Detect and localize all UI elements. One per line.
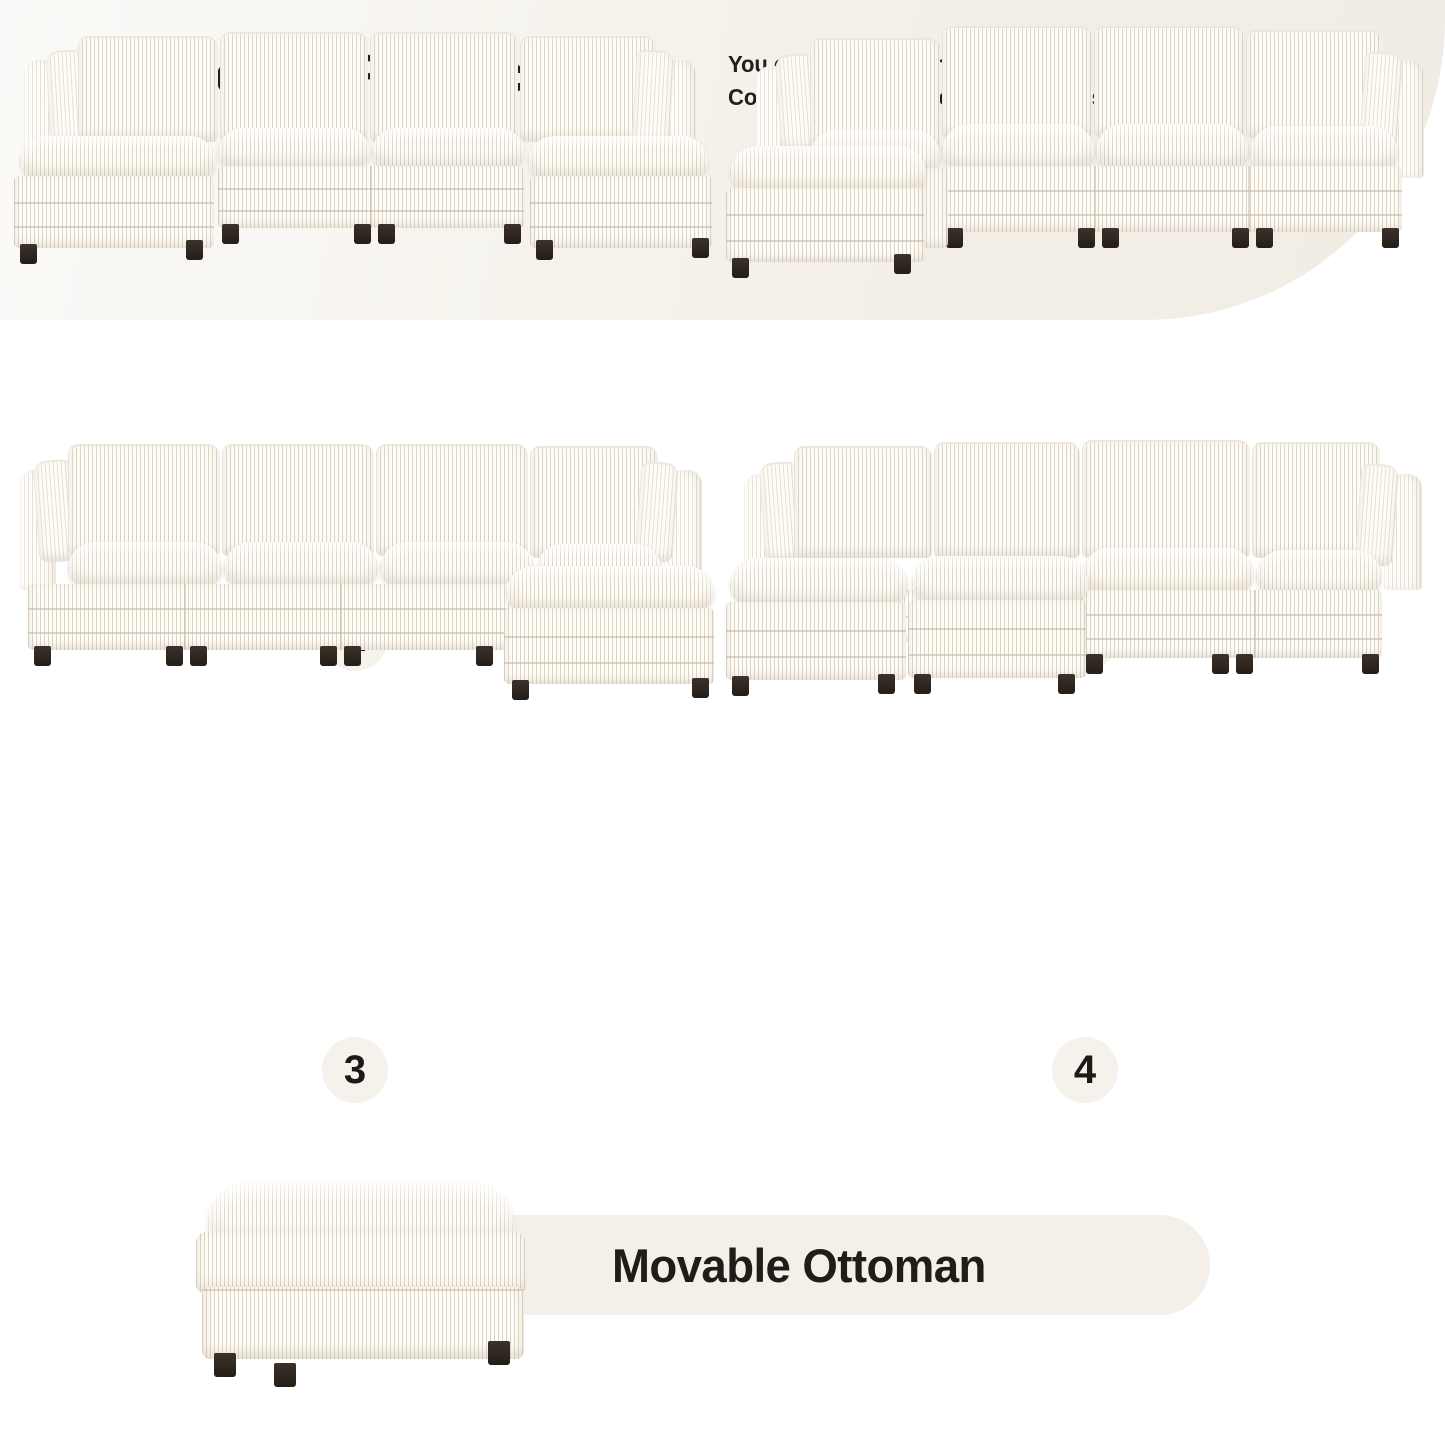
ottoman-cushion (730, 146, 926, 192)
ottoman-upper-base (196, 1231, 526, 1293)
config-badge-4: 4 (1052, 1037, 1118, 1103)
sofa-foot (1212, 654, 1229, 674)
ottoman-cushion-left (20, 136, 216, 180)
ottoman-cushion-right (528, 136, 708, 180)
ottoman-foot (914, 674, 931, 694)
back-cushion (222, 444, 374, 556)
seat-cushion (942, 124, 1094, 170)
config-card-3[interactable] (6, 430, 716, 730)
seat-cushion (372, 128, 524, 170)
sofa-foot (190, 646, 207, 666)
sofa-base (1082, 590, 1382, 658)
ottoman-foot (488, 1341, 510, 1365)
sofa-illustration-1 (6, 18, 716, 238)
back-cushion (1082, 440, 1250, 558)
ottoman-foot (878, 674, 895, 694)
ottoman-foot (692, 238, 709, 258)
ottoman-foot (20, 244, 37, 264)
back-cushion (376, 444, 528, 556)
config-card-4[interactable] (726, 430, 1438, 730)
sofa-base-corner (922, 168, 948, 248)
sofa-foot (1256, 228, 1273, 248)
ottoman-foot (536, 240, 553, 260)
sofa-foot (166, 646, 183, 666)
movable-ottoman-banner: Movable Ottoman (470, 1215, 1210, 1315)
ottoman-foot (186, 240, 203, 260)
sofa-illustration-3 (6, 430, 716, 650)
ottoman-lower-base (202, 1287, 524, 1359)
sofa-foot (1362, 654, 1379, 674)
sofa-illustration-2 (726, 18, 1438, 238)
sofa-foot (1232, 228, 1249, 248)
ottoman-foot (214, 1353, 236, 1377)
ottoman-base (504, 608, 714, 684)
ottoman-base (726, 188, 924, 262)
ottoman-foot (894, 254, 911, 274)
back-cushion (78, 36, 218, 142)
back-cushion (794, 446, 932, 558)
sofa-foot (34, 646, 51, 666)
sofa-base (28, 584, 518, 650)
seat-cushion (224, 542, 378, 588)
sofa-foot (378, 224, 395, 244)
seat-cushion (218, 128, 370, 170)
sofa-foot (1102, 228, 1119, 248)
sofa-illustration-4 (726, 430, 1438, 650)
sofa-foot (504, 224, 521, 244)
sofa-right-corner-pillow (631, 49, 674, 149)
ottoman-foot (692, 678, 709, 698)
ottoman-cushion (506, 566, 714, 612)
sofa-base (942, 166, 1402, 232)
back-cushion (934, 442, 1080, 558)
ottoman-foot (1058, 674, 1075, 694)
seat-cushion (1082, 548, 1254, 594)
seat-cushion (68, 542, 222, 588)
back-cushion (942, 26, 1092, 138)
sofa-foot (1382, 228, 1399, 248)
config-card-1[interactable] (6, 18, 716, 308)
back-cushion (1094, 26, 1244, 138)
movable-ottoman-section: Movable Ottoman (0, 1165, 1445, 1395)
ottoman-cushion-a (730, 558, 908, 606)
infographic-page: Series of Products You can purchase any … (0, 0, 1445, 1445)
back-cushion (68, 444, 220, 556)
ottoman-base-left (14, 176, 214, 248)
sofa-foot (1078, 228, 1095, 248)
seat-cushion (1096, 124, 1248, 170)
back-cushion (370, 32, 518, 142)
config-badge-3: 3 (322, 1037, 388, 1103)
sofa-foot (354, 224, 371, 244)
movable-ottoman-illustration (196, 1183, 556, 1373)
ottoman-base-right (530, 176, 712, 248)
sofa-foot (1236, 654, 1253, 674)
movable-ottoman-label: Movable Ottoman (612, 1238, 986, 1293)
sofa-foot (222, 224, 239, 244)
sofa-foot (476, 646, 493, 666)
sofa-foot (946, 228, 963, 248)
ottoman-foot (732, 676, 749, 696)
back-cushion (220, 32, 368, 142)
ottoman-foot (512, 680, 529, 700)
sofa-foot (1086, 654, 1103, 674)
ottoman-base-b (908, 600, 1086, 678)
ottoman-foot (274, 1363, 296, 1387)
ottoman-cushion-b (912, 556, 1088, 604)
ottoman-foot (732, 258, 749, 278)
sofa-base (218, 166, 524, 228)
sofa-foot (320, 646, 337, 666)
sofa-foot (344, 646, 361, 666)
ottoman-base-a (726, 602, 906, 680)
config-card-2[interactable] (726, 18, 1438, 308)
